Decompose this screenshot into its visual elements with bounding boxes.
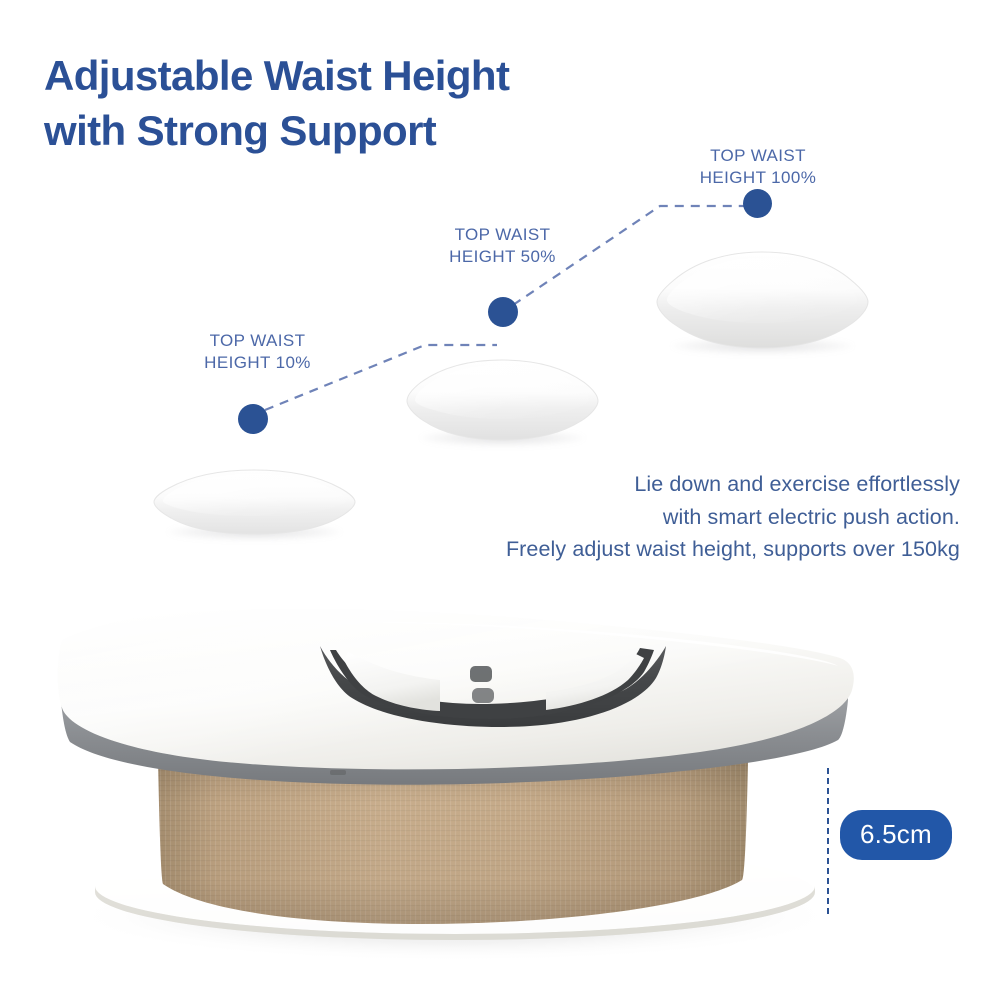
step-label-100-line-1: TOP WAIST <box>710 146 806 165</box>
product-illustration <box>0 580 1000 1000</box>
step-label-50: TOP WAIST HEIGHT 50% <box>440 224 565 268</box>
product-image <box>0 580 1000 1000</box>
measurement-guide-line <box>827 768 829 914</box>
description-line-3: Freely adjust waist height, supports ove… <box>340 533 960 566</box>
description-text: Lie down and exercise effortlessly with … <box>340 468 960 566</box>
step-dot-100[interactable] <box>743 189 772 218</box>
step-dot-10[interactable] <box>238 404 268 434</box>
step-label-50-line-1: TOP WAIST <box>455 225 551 244</box>
description-line-1: Lie down and exercise effortlessly <box>340 468 960 501</box>
step-label-10-line-2: HEIGHT 10% <box>195 352 320 374</box>
pillow-medium <box>405 358 600 442</box>
description-line-2: with smart electric push action. <box>340 501 960 534</box>
product-top-shell <box>58 609 854 770</box>
pillow-large <box>655 250 870 350</box>
step-label-10-line-1: TOP WAIST <box>210 331 306 350</box>
pillow-small-shape <box>152 468 357 536</box>
pillow-small <box>152 468 357 536</box>
step-dot-50[interactable] <box>488 297 518 327</box>
status-badge: 6.5cm <box>840 810 952 860</box>
step-label-10: TOP WAIST HEIGHT 10% <box>195 330 320 374</box>
step-label-50-line-2: HEIGHT 50% <box>440 246 565 268</box>
step-label-100-line-2: HEIGHT 100% <box>692 167 824 189</box>
infographic-page: Adjustable Waist Height with Strong Supp… <box>0 0 1000 1000</box>
pillow-large-shape <box>655 250 870 350</box>
step-label-100: TOP WAIST HEIGHT 100% <box>692 145 824 189</box>
pillow-medium-shape <box>405 358 600 442</box>
